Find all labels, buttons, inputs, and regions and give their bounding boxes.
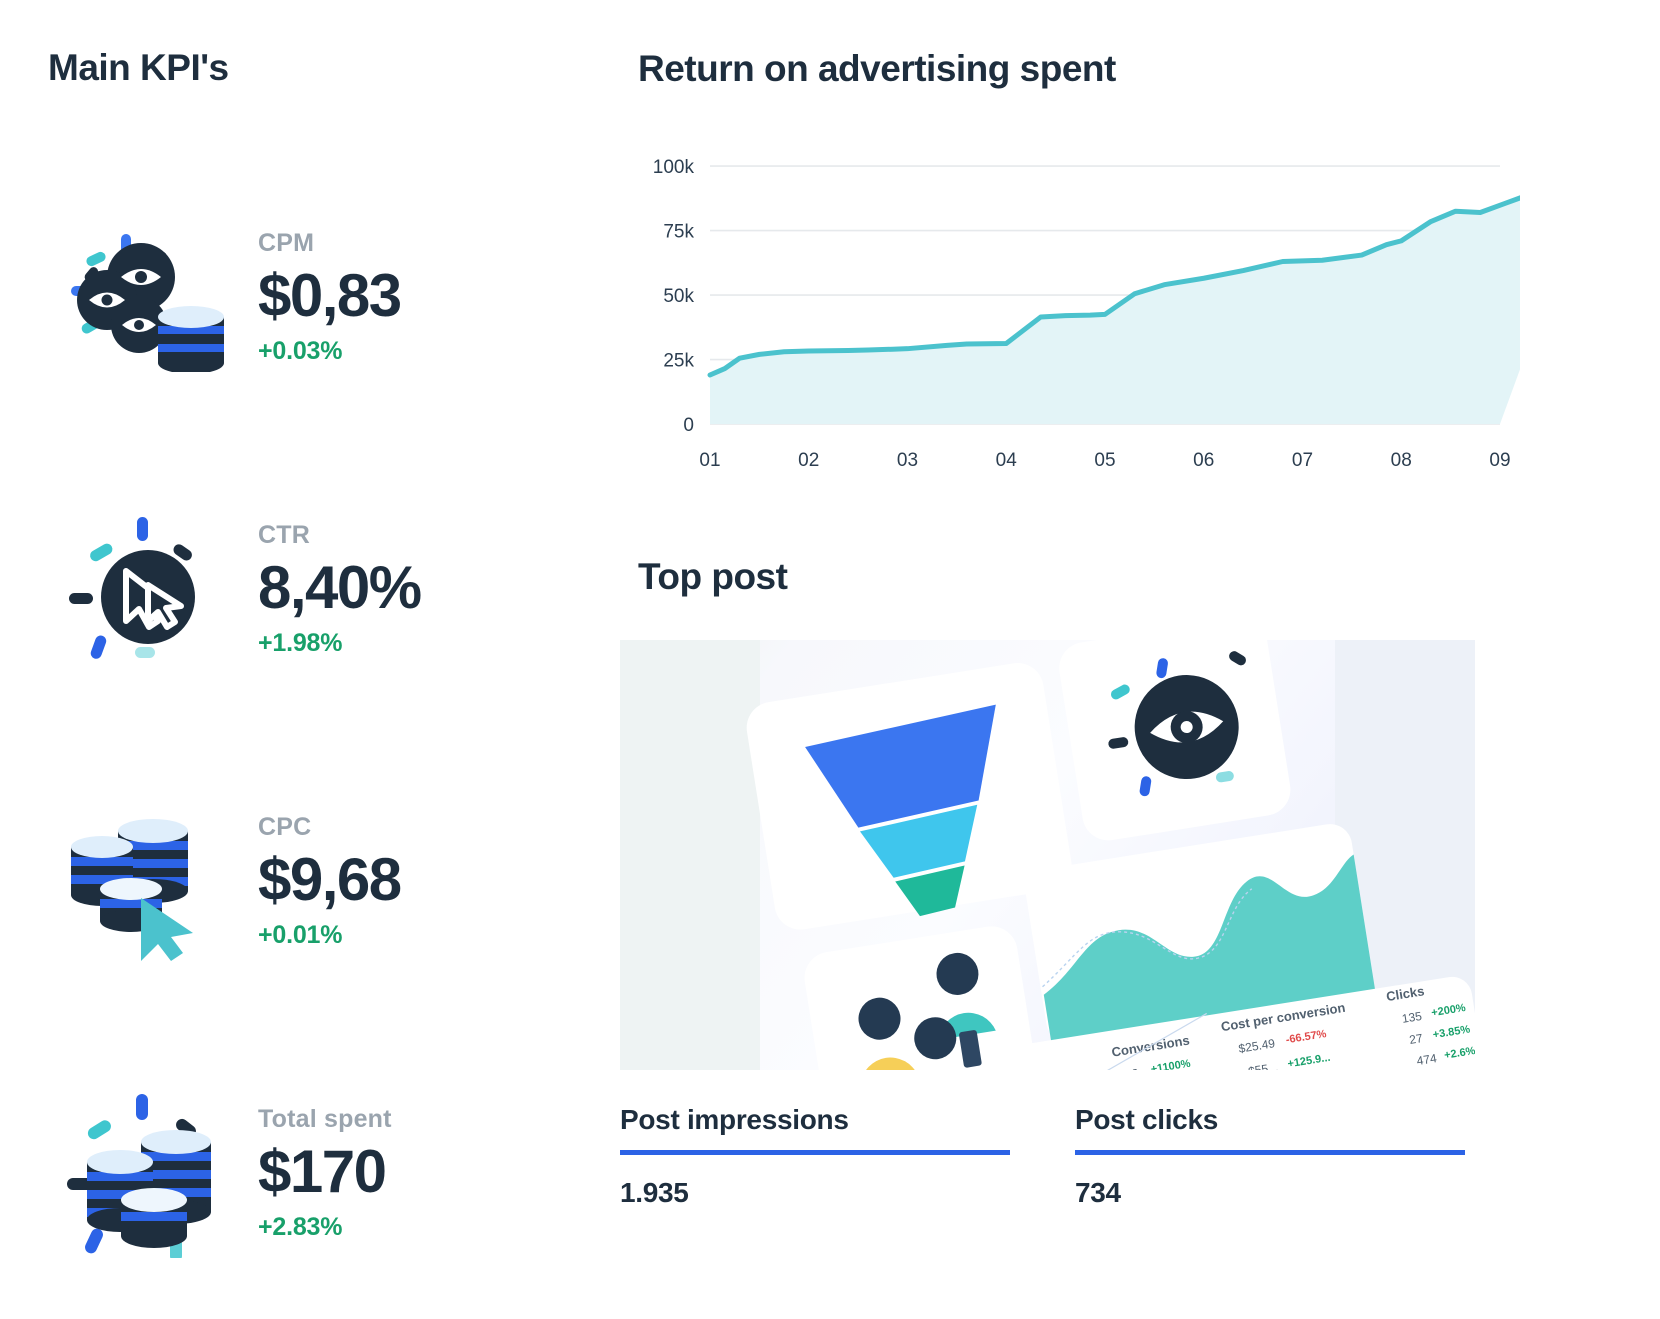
kpi-text-cpm: CPM $0,83 +0.03%	[248, 228, 401, 366]
post-metric-label: Post impressions	[620, 1104, 1075, 1136]
eyes-coins-icon	[48, 222, 248, 372]
cursor-click-icon	[48, 509, 248, 669]
kpi-text-total-spent: Total spent $170 +2.83%	[248, 1104, 392, 1242]
chart-x-axis-labels: 010203040506070809	[699, 450, 1510, 471]
kpi-value: $9,68	[258, 848, 401, 911]
y-axis-tick-label: 75k	[663, 222, 694, 243]
x-axis-tick-label: 01	[699, 450, 720, 471]
post-metric-impressions: Post impressions 1.935	[620, 1104, 1075, 1209]
kpi-delta: +0.03%	[258, 337, 401, 366]
post-metric-value: 1.935	[620, 1177, 1075, 1209]
post-metric-rule	[1075, 1150, 1465, 1155]
chart-title: Return on advertising spent	[638, 48, 1540, 90]
right-panel: Return on advertising spent 025k50k75k10…	[620, 0, 1660, 1317]
kpi-delta: +0.01%	[258, 921, 401, 950]
post-metric-value: 734	[1075, 1177, 1475, 1209]
x-axis-tick-label: 09	[1489, 450, 1510, 471]
kpi-delta: +2.83%	[258, 1213, 392, 1242]
kpi-label: CPC	[258, 812, 401, 842]
kpi-text-cpc: CPC $9,68 +0.01%	[248, 812, 401, 950]
coins-stack-icon	[48, 1088, 248, 1258]
svg-text:27: 27	[1408, 1031, 1424, 1047]
y-axis-tick-label: 25k	[663, 351, 694, 372]
kpi-delta: +1.98%	[258, 629, 421, 658]
kpi-list: CPM $0,83 +0.03%	[48, 151, 620, 1319]
x-axis-tick-label: 08	[1391, 450, 1412, 471]
chart-area-fill	[710, 154, 1520, 424]
kpi-value: 8,40%	[258, 556, 421, 619]
y-axis-tick-label: 100k	[653, 157, 695, 178]
main-kpis-panel: Main KPI's	[0, 0, 620, 1317]
post-metrics: Post impressions 1.935 Post clicks 734	[620, 1104, 1475, 1209]
kpi-item-cpc[interactable]: CPC $9,68 +0.01%	[48, 735, 620, 1027]
post-metric-rule	[620, 1150, 1010, 1155]
post-section-title: Top post	[638, 556, 1540, 598]
dashboard-page: Main KPI's	[0, 0, 1660, 1317]
kpi-text-ctr: CTR 8,40% +1.98%	[248, 520, 421, 658]
kpi-item-ctr[interactable]: CTR 8,40% +1.98%	[48, 443, 620, 735]
x-axis-tick-label: 03	[897, 450, 918, 471]
coins-cursor-icon	[48, 801, 248, 961]
kpi-label: CPM	[258, 228, 401, 258]
kpi-label: CTR	[258, 520, 421, 550]
kpi-item-total-spent[interactable]: Total spent $170 +2.83%	[48, 1027, 620, 1319]
chart-y-axis-labels: 025k50k75k100k	[653, 157, 695, 436]
x-axis-tick-label: 02	[798, 450, 819, 471]
kpi-value: $0,83	[258, 264, 401, 327]
post-metric-clicks: Post clicks 734	[1075, 1104, 1475, 1209]
x-axis-tick-label: 07	[1292, 450, 1313, 471]
page-title: Main KPI's	[48, 48, 620, 89]
y-axis-tick-label: 0	[683, 415, 694, 436]
area-fill-path	[710, 154, 1520, 424]
post-metric-label: Post clicks	[1075, 1104, 1475, 1136]
kpi-item-cpm[interactable]: CPM $0,83 +0.03%	[48, 151, 620, 443]
top-post-image[interactable]: Cost Conversions Cost per conversion Cli…	[620, 640, 1475, 1070]
kpi-label: Total spent	[258, 1104, 392, 1134]
x-axis-tick-label: 06	[1193, 450, 1214, 471]
x-axis-tick-label: 04	[996, 450, 1018, 471]
roas-area-chart[interactable]: 025k50k75k100k 010203040506070809	[620, 134, 1540, 494]
x-axis-tick-label: 05	[1094, 450, 1115, 471]
y-axis-tick-label: 50k	[663, 286, 694, 307]
kpi-value: $170	[258, 1140, 392, 1203]
